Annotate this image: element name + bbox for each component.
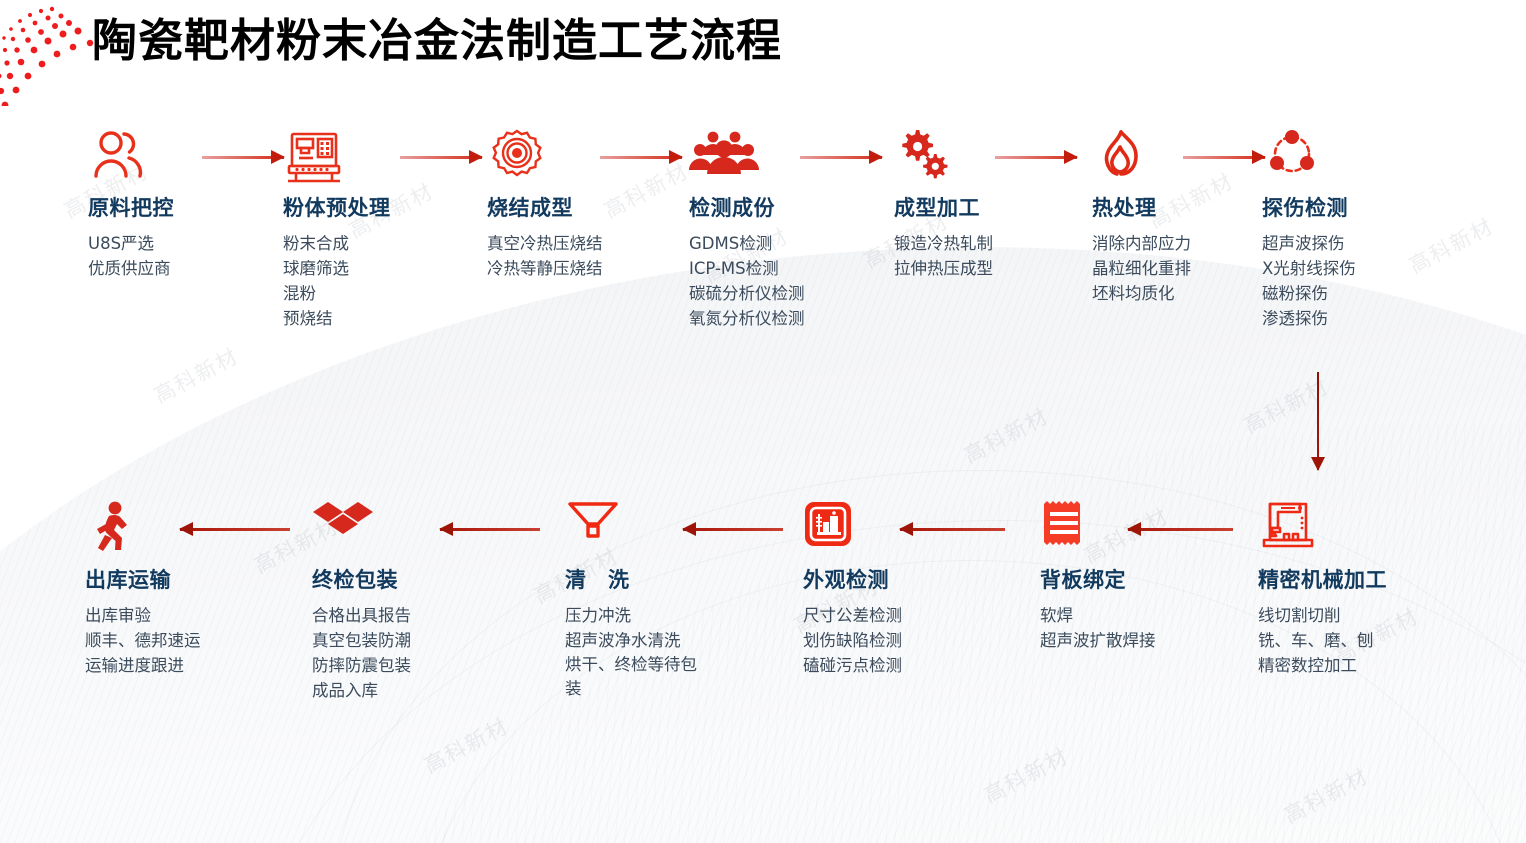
flow-arrow-right	[800, 150, 882, 164]
flow-arrow-right	[995, 150, 1077, 164]
flow-arrow-left	[440, 522, 540, 536]
arrow-shaft	[683, 528, 783, 531]
step-title: 检测成份	[689, 192, 894, 222]
step-item-list: 真空冷热压烧结 冷热等静压烧结	[487, 231, 692, 281]
step-title: 终检包装	[312, 564, 517, 594]
step-item: 超声波探伤	[1262, 231, 1467, 256]
process-step-flaw-detection[interactable]: 探伤检测 超声波探伤 X光射线探伤 磁粉探伤 渗透探伤	[1262, 128, 1467, 331]
arrow-head	[669, 150, 683, 164]
step-title: 精密机械加工	[1258, 564, 1463, 594]
arrow-head	[682, 522, 696, 536]
step-item: 拉伸热压成型	[894, 256, 1099, 281]
step-item: 超声波扩散焊接	[1040, 628, 1245, 653]
step-item-list: 出库审验 顺丰、德邦速运 运输进度跟进	[85, 603, 290, 678]
step-item-list: 软焊 超声波扩散焊接	[1040, 603, 1245, 653]
watermark: 高科新材	[958, 400, 1053, 470]
step-title: 清洗	[565, 564, 770, 594]
arrow-shaft	[440, 528, 540, 531]
step-item-list: 线切割切削 铣、车、磨、刨 精密数控加工	[1258, 603, 1463, 678]
step-title: 出库运输	[85, 564, 290, 594]
step-item: 渗透探伤	[1262, 306, 1467, 331]
step-item: 线切割切削	[1258, 603, 1463, 628]
arrow-head	[271, 150, 285, 164]
flow-arrow-right	[1183, 150, 1265, 164]
step-title: 外观检测	[803, 564, 1008, 594]
step-title: 烧结成型	[487, 192, 692, 222]
flow-arrow-down	[1311, 372, 1325, 470]
arrow-head	[439, 522, 453, 536]
step-item-list: U8S严选 优质供应商	[88, 231, 293, 281]
step-title: 粉体预处理	[283, 192, 488, 222]
step-item: 软焊	[1040, 603, 1245, 628]
arrow-head	[869, 150, 883, 164]
step-item: 混粉	[283, 281, 488, 306]
step-item-list: GDMS检测 ICP-MS检测 碳硫分析仪检测 氧氮分析仪检测	[689, 231, 894, 331]
step-item: 球磨筛选	[283, 256, 488, 281]
arrow-shaft	[180, 528, 290, 531]
step-title: 成型加工	[894, 192, 1099, 222]
three-dots-cycle-icon	[1262, 128, 1467, 184]
step-item: 烘干、终检等待包装	[565, 653, 705, 701]
step-item: 粉末合成	[283, 231, 488, 256]
arrow-head	[1064, 150, 1078, 164]
step-item: 压力冲洗	[565, 603, 770, 628]
arrow-head	[469, 150, 483, 164]
arrow-shaft	[1128, 528, 1233, 531]
step-item: ICP-MS检测	[689, 256, 894, 281]
watermark: 高科新材	[418, 710, 513, 780]
flow-arrow-left	[180, 522, 290, 536]
flow-arrow-left	[1128, 522, 1233, 536]
step-item-list: 尺寸公差检测 划伤缺陷检测 磕碰污点检测	[803, 603, 1008, 678]
step-item: 尺寸公差检测	[803, 603, 1008, 628]
arrow-shaft	[1317, 372, 1319, 470]
step-item: 磕碰污点检测	[803, 653, 1008, 678]
step-item: 冷热等静压烧结	[487, 256, 692, 281]
cnc-machine-icon	[1258, 500, 1463, 556]
watermark: 高科新材	[148, 340, 243, 410]
step-item: 真空包装防潮	[312, 628, 517, 653]
step-item: X光射线探伤	[1262, 256, 1467, 281]
flow-arrow-right	[202, 150, 284, 164]
arrow-head	[899, 522, 913, 536]
step-item: 碳硫分析仪检测	[689, 281, 894, 306]
step-item: 精密数控加工	[1258, 653, 1463, 678]
step-item-list: 超声波探伤 X光射线探伤 磁粉探伤 渗透探伤	[1262, 231, 1467, 331]
step-item-list: 合格出具报告 真空包装防潮 防摔防震包装 成品入库	[312, 603, 517, 703]
flow-arrow-left	[900, 522, 1005, 536]
step-item: 优质供应商	[88, 256, 293, 281]
step-title: 背板绑定	[1040, 564, 1245, 594]
arrow-head	[1127, 522, 1141, 536]
step-item: 运输进度跟进	[85, 653, 290, 678]
step-item: 划伤缺陷检测	[803, 628, 1008, 653]
arrow-shaft	[900, 528, 1005, 531]
flow-arrow-left	[683, 522, 783, 536]
step-item: 顺丰、德邦速运	[85, 628, 290, 653]
step-item: 预烧结	[283, 306, 488, 331]
step-item: 磁粉探伤	[1262, 281, 1467, 306]
page-title: 陶瓷靶材粉末冶金法制造工艺流程	[92, 4, 782, 69]
step-item-list: 压力冲洗 超声波净水清洗 烘干、终检等待包装	[565, 603, 770, 701]
step-title: 探伤检测	[1262, 192, 1467, 222]
step-item: 合格出具报告	[312, 603, 517, 628]
step-item: 真空冷热压烧结	[487, 231, 692, 256]
process-step-precision-machining[interactable]: 精密机械加工 线切割切削 铣、车、磨、刨 精密数控加工	[1258, 500, 1463, 678]
watermark: 高科新材	[978, 740, 1073, 810]
step-item: 成品入库	[312, 678, 517, 703]
step-item: 铣、车、磨、刨	[1258, 628, 1463, 653]
step-item: 超声波净水清洗	[565, 628, 770, 653]
step-item: 出库审验	[85, 603, 290, 628]
background-decoration: 高科新材 高科新材 高科新材 高科新材 高科新材 高科新材 高科新材 高科新材 …	[0, 0, 1526, 843]
watermark: 高科新材	[1278, 760, 1373, 830]
arrow-head	[1311, 457, 1325, 471]
step-item: 防摔防震包装	[312, 653, 517, 678]
step-item: 氧氮分析仪检测	[689, 306, 894, 331]
step-title: 原料把控	[88, 192, 293, 222]
arrow-head	[1252, 150, 1266, 164]
step-item-list: 锻造冷热轧制 拉伸热压成型	[894, 231, 1099, 281]
flow-arrow-right	[600, 150, 682, 164]
arrow-head	[179, 522, 193, 536]
flow-arrow-right	[400, 150, 482, 164]
step-item: 锻造冷热轧制	[894, 231, 1099, 256]
step-item: GDMS检测	[689, 231, 894, 256]
step-item-list: 粉末合成 球磨筛选 混粉 预烧结	[283, 231, 488, 331]
step-item: U8S严选	[88, 231, 293, 256]
